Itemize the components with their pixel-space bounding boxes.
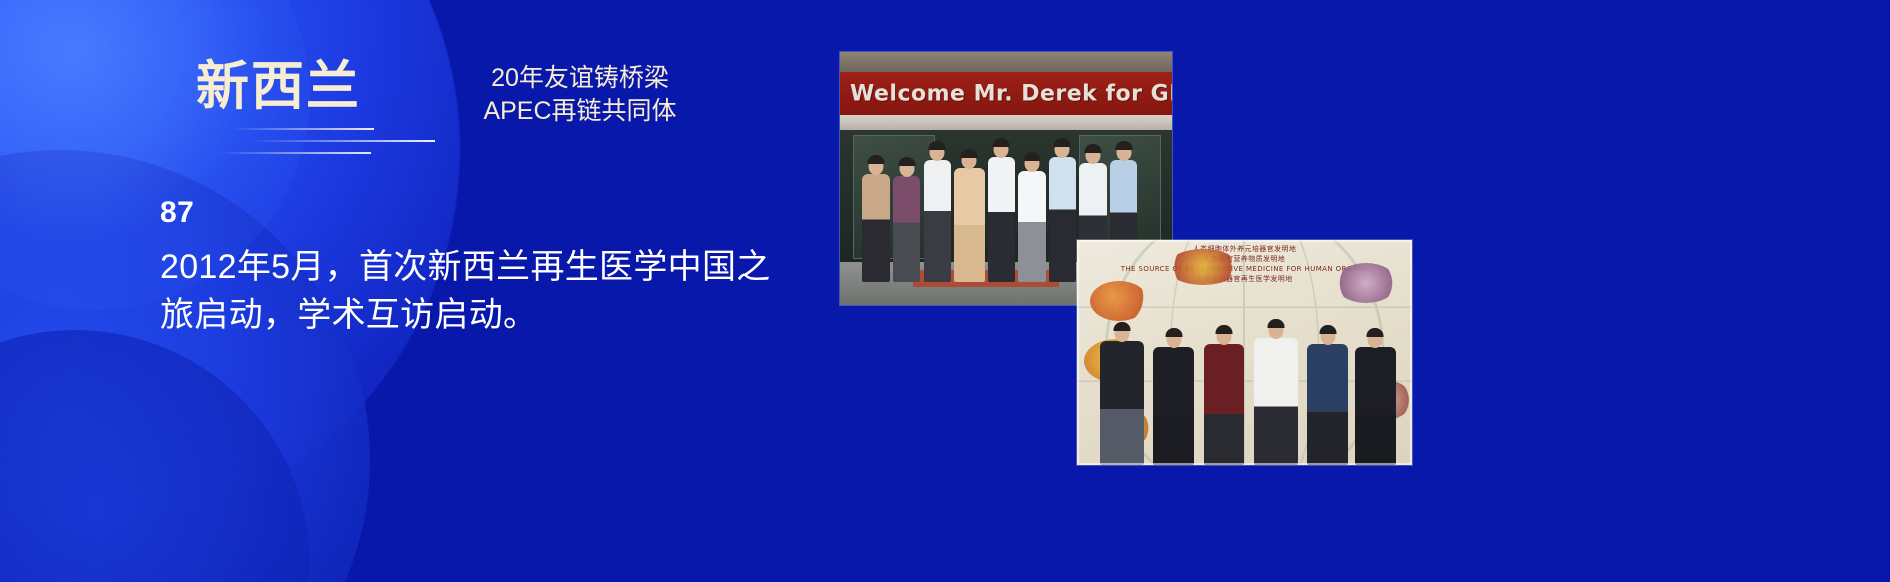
person-head (1166, 331, 1181, 348)
person-head (1086, 147, 1101, 164)
photo-exhibition-content: 人类细胞体外养元培器官发明地 人类器官营养物质发明地 THE SOURCE OF… (1077, 240, 1412, 465)
person-figure (1153, 347, 1194, 465)
board-motif-1 (1090, 281, 1148, 321)
photo-exhibition[interactable]: 人类细胞体外养元培器官发明地 人类器官营养物质发明地 THE SOURCE OF… (1077, 240, 1412, 465)
person-head (930, 144, 945, 161)
person-head (1055, 141, 1070, 158)
person-figure (1018, 171, 1045, 282)
person-figure (1049, 157, 1076, 282)
person-head (1217, 328, 1232, 345)
subtitle: 20年友谊铸桥梁 APEC再链共同体 (420, 62, 740, 128)
person-head (1114, 325, 1129, 342)
person-head (1368, 331, 1383, 348)
person-head (1024, 155, 1039, 172)
person-figure (1307, 344, 1348, 465)
people-group (1087, 321, 1402, 465)
item-number: 87 (160, 196, 194, 230)
title-divider-lines (185, 128, 515, 164)
person-figure (893, 176, 920, 282)
person-head (994, 141, 1009, 158)
building-eave (840, 52, 1172, 72)
person-figure (1355, 347, 1396, 465)
caption-line-1: 人类细胞体外养元培器官发明地 (1077, 244, 1412, 254)
person-head (1116, 144, 1131, 161)
divider-line-1 (232, 128, 374, 130)
subtitle-line-2: APEC再链共同体 (420, 95, 740, 128)
person-figure (954, 168, 985, 282)
person-head (962, 152, 977, 169)
person-figure (1254, 338, 1298, 465)
person-figure (1204, 344, 1245, 465)
page-title: 新西兰 (196, 58, 361, 116)
person-figure (1100, 341, 1144, 465)
person-figure (924, 160, 951, 282)
slide-root: 新西兰 20年友谊铸桥梁 APEC再链共同体 87 2012年5月，首次新西兰再… (0, 0, 1890, 582)
person-figure (862, 174, 889, 283)
divider-line-2 (250, 140, 435, 142)
glass-transom (840, 115, 1172, 130)
welcome-banner-text: Welcome Mr. Derek for GMP In (850, 81, 1172, 106)
person-head (1320, 328, 1335, 345)
divider-line-3 (219, 152, 371, 154)
welcome-banner: Welcome Mr. Derek for GMP In (840, 72, 1172, 115)
person-head (1268, 322, 1283, 339)
person-head (869, 158, 884, 175)
body-paragraph: 2012年5月，首次新西兰再生医学中国之旅启动，学术互访启动。 (160, 243, 800, 340)
board-motif-4 (1335, 263, 1397, 303)
person-head (899, 160, 914, 177)
board-motif-3 (1167, 249, 1239, 285)
subtitle-line-1: 20年友谊铸桥梁 (420, 62, 740, 95)
person-figure (988, 157, 1015, 282)
